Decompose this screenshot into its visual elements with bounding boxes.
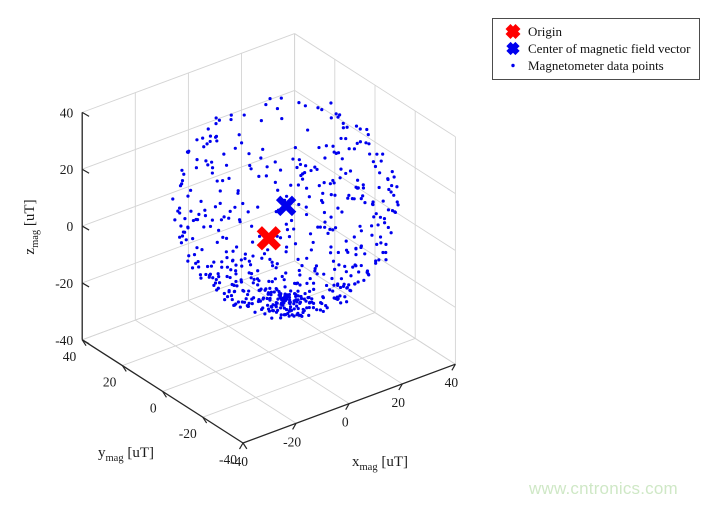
data-point: [346, 197, 349, 200]
data-point: [204, 214, 207, 217]
data-point: [295, 282, 298, 285]
data-point: [304, 300, 307, 303]
data-point: [333, 194, 336, 197]
data-point: [379, 216, 382, 219]
data-point: [323, 181, 326, 184]
data-point: [263, 312, 266, 315]
data-point: [387, 188, 390, 191]
data-point: [274, 181, 277, 184]
data-point: [308, 290, 311, 293]
data-point: [299, 295, 302, 298]
data-point: [215, 139, 218, 142]
data-point: [360, 264, 363, 267]
legend-box[interactable]: Origin Center of magnetic field vector M…: [492, 18, 700, 80]
data-point: [345, 300, 348, 303]
data-point: [187, 150, 190, 153]
data-point: [290, 309, 293, 312]
data-point: [185, 238, 188, 241]
data-point: [323, 220, 326, 223]
data-point: [250, 225, 253, 228]
data-point: [342, 126, 345, 129]
legend-entry-center: Center of magnetic field vector: [498, 40, 693, 57]
data-point: [173, 218, 176, 221]
data-point: [246, 293, 249, 296]
data-point: [179, 224, 182, 227]
data-point: [266, 248, 269, 251]
data-point: [310, 248, 313, 251]
data-point: [219, 189, 222, 192]
data-point: [329, 182, 332, 185]
data-point: [283, 278, 286, 281]
data-point: [207, 127, 210, 130]
data-point: [318, 184, 321, 187]
data-point: [231, 250, 234, 253]
data-point: [309, 232, 312, 235]
data-point: [275, 301, 278, 304]
data-point: [382, 199, 385, 202]
data-point: [276, 309, 279, 312]
origin-marker[interactable]: [259, 229, 278, 248]
data-point: [367, 133, 370, 136]
data-point: [216, 179, 219, 182]
data-point: [231, 259, 234, 262]
data-point: [260, 308, 263, 311]
data-point: [231, 283, 234, 286]
data-point: [240, 265, 243, 268]
highlight-markers: [259, 198, 294, 248]
data-point: [182, 230, 185, 233]
data-point: [219, 202, 222, 205]
tick-label: -20: [283, 434, 301, 449]
data-point: [240, 141, 243, 144]
data-point: [279, 236, 282, 239]
data-point: [330, 277, 333, 280]
data-point: [316, 106, 319, 109]
data-point: [298, 269, 301, 272]
data-point: [276, 107, 279, 110]
data-point: [296, 298, 299, 301]
data-point: [395, 185, 398, 188]
data-point: [331, 289, 334, 292]
data-point: [372, 215, 375, 218]
data-point: [344, 137, 347, 140]
data-point: [345, 249, 348, 252]
data-point: [347, 194, 350, 197]
data-point: [225, 256, 228, 259]
data-point: [285, 223, 288, 226]
svg-text:ymag [uT]: ymag [uT]: [98, 445, 154, 464]
data-point: [345, 240, 348, 243]
data-point: [360, 229, 363, 232]
data-point: [391, 170, 394, 173]
data-point: [396, 203, 399, 206]
blue-cross-marker-icon: [498, 40, 528, 57]
figure-3d-scatter: -40-2002040-40-2002040-40-2002040 xmag […: [0, 0, 714, 508]
data-point: [296, 312, 299, 315]
data-point: [197, 260, 200, 263]
blue-dot-marker-icon: [498, 57, 528, 74]
data-point: [178, 211, 181, 214]
data-point: [306, 128, 309, 131]
data-point: [325, 284, 328, 287]
data-point: [243, 113, 246, 116]
data-point: [250, 276, 253, 279]
data-point: [315, 168, 318, 171]
data-point: [245, 297, 248, 300]
data-point: [387, 208, 390, 211]
data-point: [360, 197, 363, 200]
data-point: [320, 199, 323, 202]
data-point: [199, 273, 202, 276]
data-point: [241, 202, 244, 205]
data-point: [288, 315, 291, 318]
data-point: [319, 225, 322, 228]
data-point: [363, 252, 366, 255]
data-point: [199, 277, 202, 280]
data-point: [215, 278, 218, 281]
data-point: [361, 194, 364, 197]
data-point: [239, 305, 242, 308]
data-point: [182, 173, 185, 176]
data-point: [374, 259, 377, 262]
data-point: [268, 287, 271, 290]
data-point: [367, 273, 370, 276]
data-point: [250, 298, 253, 301]
data-point: [211, 276, 214, 279]
legend-label-datapoints: Magnetometer data points: [528, 57, 664, 74]
data-point: [357, 270, 360, 273]
data-point: [195, 158, 198, 161]
data-point: [333, 268, 336, 271]
data-point: [218, 119, 221, 122]
data-point: [342, 122, 345, 125]
data-point: [247, 152, 250, 155]
data-point: [206, 163, 209, 166]
data-point: [195, 246, 198, 249]
data-point: [276, 189, 279, 192]
data-point: [323, 211, 326, 214]
data-point: [339, 168, 342, 171]
data-point: [189, 210, 192, 213]
data-point: [281, 275, 284, 278]
data-point: [336, 115, 339, 118]
data-point: [251, 302, 254, 305]
data-point: [265, 174, 268, 177]
data-point: [299, 314, 302, 317]
data-point: [218, 281, 221, 284]
data-point: [181, 234, 184, 237]
data-point: [270, 316, 273, 319]
data-point: [187, 254, 190, 257]
data-point: [359, 140, 362, 143]
data-point: [346, 126, 349, 129]
tick-label: 20: [392, 395, 406, 410]
data-point: [297, 294, 300, 297]
data-point: [216, 241, 219, 244]
data-point: [279, 306, 282, 309]
data-point: [370, 224, 373, 227]
watermark-text: www.cntronics.com: [529, 479, 678, 499]
data-point: [285, 308, 288, 311]
data-point: [225, 250, 228, 253]
data-point: [390, 231, 393, 234]
data-point: [273, 290, 276, 293]
data-point: [292, 315, 295, 318]
data-point: [260, 257, 263, 260]
tick-label: 40: [445, 375, 459, 390]
data-point: [339, 286, 342, 289]
data-point: [331, 179, 334, 182]
data-point: [323, 156, 326, 159]
data-point: [336, 296, 339, 299]
data-point: [313, 165, 316, 168]
data-point: [266, 297, 269, 300]
data-point: [196, 218, 199, 221]
data-point: [264, 103, 267, 106]
data-point: [354, 247, 357, 250]
data-point: [370, 234, 373, 237]
data-point: [274, 304, 277, 307]
data-point: [291, 157, 294, 160]
data-point: [362, 186, 365, 189]
data-point: [306, 296, 309, 299]
data-point: [312, 288, 315, 291]
data-point: [351, 266, 354, 269]
data-point: [256, 206, 259, 209]
data-point: [374, 165, 377, 168]
tick-label: 0: [342, 415, 349, 430]
data-point: [330, 193, 333, 196]
data-point: [355, 125, 358, 128]
data-point: [229, 276, 232, 279]
data-point: [322, 273, 325, 276]
data-point: [358, 225, 361, 228]
data-point: [292, 227, 295, 230]
data-point: [214, 122, 217, 125]
data-point: [309, 169, 312, 172]
data-point: [209, 135, 212, 138]
data-point: [331, 228, 334, 231]
data-point: [209, 140, 212, 143]
data-point: [247, 210, 250, 213]
data-point: [234, 147, 237, 150]
data-point: [272, 309, 275, 312]
data-point: [271, 280, 274, 283]
svg-text:xmag [uT]: xmag [uT]: [352, 454, 408, 473]
data-point: [237, 300, 240, 303]
data-point: [256, 283, 259, 286]
data-point: [189, 189, 192, 192]
data-point: [297, 307, 300, 310]
tick-label: -20: [179, 426, 197, 441]
data-point: [329, 101, 332, 104]
data-point: [329, 245, 332, 248]
data-point: [308, 195, 311, 198]
data-point: [317, 146, 320, 149]
data-point: [220, 218, 223, 221]
data-point: [294, 146, 297, 149]
data-point: [310, 297, 313, 300]
data-point: [230, 114, 233, 117]
data-point: [215, 116, 218, 119]
data-point: [384, 258, 387, 261]
data-point: [379, 241, 382, 244]
data-point: [356, 142, 359, 145]
data-point: [328, 228, 331, 231]
data-point: [333, 296, 336, 299]
data-point: [383, 221, 386, 224]
data-point: [268, 97, 271, 100]
data-point: [299, 163, 302, 166]
data-point: [248, 260, 251, 263]
data-point: [279, 292, 282, 295]
data-point: [274, 160, 277, 163]
data-point: [235, 284, 238, 287]
data-point: [375, 243, 378, 246]
data-point: [193, 253, 196, 256]
data-point: [203, 209, 206, 212]
data-point: [283, 285, 286, 288]
data-point: [312, 282, 315, 285]
data-point: [314, 267, 317, 270]
data-point: [293, 299, 296, 302]
data-point: [303, 292, 306, 295]
data-point: [376, 223, 379, 226]
data-point: [237, 189, 240, 192]
data-point: [337, 263, 340, 266]
data-point: [180, 241, 183, 244]
tick-label: 0: [66, 219, 73, 234]
tick-label: -40: [55, 333, 73, 348]
data-point: [195, 138, 198, 141]
data-point: [251, 254, 254, 257]
data-point: [304, 104, 307, 107]
data-point: [335, 112, 338, 115]
tick-label: 40: [60, 105, 74, 120]
data-point: [284, 271, 287, 274]
data-point: [305, 187, 308, 190]
data-point: [262, 297, 265, 300]
data-point: [253, 311, 256, 314]
data-point: [270, 291, 273, 294]
data-point: [320, 302, 323, 305]
data-point: [211, 166, 214, 169]
data-point: [305, 205, 308, 208]
data-point: [202, 225, 205, 228]
data-point: [244, 253, 247, 256]
data-point: [289, 184, 292, 187]
data-point: [226, 295, 229, 298]
data-point: [199, 200, 202, 203]
data-point: [285, 245, 288, 248]
data-point: [353, 263, 356, 266]
data-point: [217, 275, 220, 278]
data-point: [234, 264, 237, 267]
data-point: [345, 270, 348, 273]
data-point: [339, 137, 342, 140]
data-point: [238, 133, 241, 136]
data-point: [183, 217, 186, 220]
data-point: [234, 272, 237, 275]
data-point: [295, 166, 298, 169]
data-point: [305, 213, 308, 216]
data-point: [297, 183, 300, 186]
data-point: [341, 157, 344, 160]
data-point: [332, 284, 335, 287]
data-point: [181, 179, 184, 182]
data-point: [204, 159, 207, 162]
data-point: [330, 116, 333, 119]
data-point: [233, 206, 236, 209]
data-point: [270, 306, 273, 309]
data-point: [259, 156, 262, 159]
data-point: [278, 296, 281, 299]
data-point: [312, 241, 315, 244]
data-point: [285, 195, 288, 198]
data-point: [368, 152, 371, 155]
data-point: [299, 301, 302, 304]
data-point: [386, 177, 389, 180]
data-point: [339, 176, 342, 179]
data-point: [390, 190, 393, 193]
axis-lines: [82, 112, 455, 443]
data-point: [268, 258, 271, 261]
data-point: [329, 251, 332, 254]
data-point: [337, 251, 340, 254]
tick-label: 0: [150, 400, 157, 415]
data-point: [347, 283, 350, 286]
data-point: [363, 201, 366, 204]
data-point: [279, 316, 282, 319]
data-point: [335, 152, 338, 155]
y-axis-title: ymag [uT]: [98, 445, 154, 464]
data-point: [393, 175, 396, 178]
svg-text:zmag [uT]: zmag [uT]: [22, 199, 41, 254]
data-point: [220, 260, 223, 263]
data-point: [234, 280, 237, 283]
data-point: [191, 266, 194, 269]
data-point: [301, 178, 304, 181]
data-point: [325, 144, 328, 147]
data-point: [186, 226, 189, 229]
data-point: [284, 299, 287, 302]
data-point: [261, 148, 264, 151]
data-point: [326, 232, 329, 235]
data-point: [300, 264, 303, 267]
data-point: [375, 153, 378, 156]
data-point: [321, 192, 324, 195]
data-point: [226, 266, 229, 269]
data-point: [365, 128, 368, 131]
data-point: [336, 207, 339, 210]
data-point: [180, 169, 183, 172]
data-point: [305, 306, 308, 309]
data-point: [322, 310, 325, 313]
data-point: [307, 314, 310, 317]
data-point: [271, 261, 274, 264]
data-point: [197, 213, 200, 216]
data-point: [275, 266, 278, 269]
data-point: [289, 305, 292, 308]
data-point: [209, 225, 212, 228]
data-point: [289, 289, 292, 292]
data-point: [241, 289, 244, 292]
data-point: [293, 307, 296, 310]
data-point: [348, 289, 351, 292]
data-point: [178, 207, 181, 210]
data-point: [222, 152, 225, 155]
data-point: [248, 271, 251, 274]
